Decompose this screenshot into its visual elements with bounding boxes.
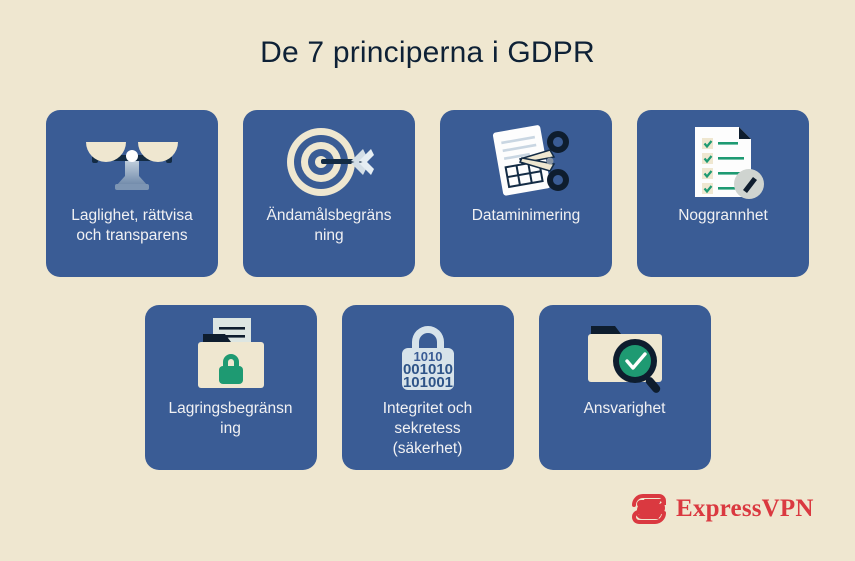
principle-card-accuracy[interactable]: Noggrannhet xyxy=(637,110,809,277)
principle-card-label: Laglighet, rättvisa och transparens xyxy=(70,206,195,246)
folder-lock-icon xyxy=(181,317,281,395)
principle-card-label: Noggrannhet xyxy=(661,206,786,226)
principle-card-purpose-limitation[interactable]: Ändamålsbegränsning xyxy=(243,110,415,277)
expressvpn-logo[interactable]: ExpressVPN xyxy=(632,494,814,524)
binary-padlock-icon: 1010 001010 101001 xyxy=(378,317,478,395)
principles-row-top: Laglighet, rättvisa och transparens xyxy=(0,110,855,277)
principle-card-integrity-confidentiality[interactable]: 1010 001010 101001 Integritet och sekret… xyxy=(342,305,514,470)
page-title: De 7 principerna i GDPR xyxy=(0,33,855,73)
principle-card-label: Dataminimering xyxy=(464,206,589,226)
principles-row-bottom: Lagringsbegränsning 1010 001010 101001 I… xyxy=(0,305,855,470)
folder-magnifier-check-icon xyxy=(575,317,675,395)
brand-name: ExpressVPN xyxy=(676,495,814,523)
principle-card-storage-limitation[interactable]: Lagringsbegränsning xyxy=(145,305,317,470)
binary-line-3: 101001 xyxy=(402,374,452,391)
principle-card-label: Lagringsbegränsning xyxy=(168,399,293,439)
principle-card-accountability[interactable]: Ansvarighet xyxy=(539,305,711,470)
principle-card-lawfulness[interactable]: Laglighet, rättvisa och transparens xyxy=(46,110,218,277)
principle-card-label: Ansvarighet xyxy=(562,399,687,419)
principle-card-label: Ändamålsbegränsning xyxy=(267,206,392,246)
balance-scale-icon xyxy=(82,122,182,202)
checklist-pencil-icon xyxy=(673,122,773,202)
gdpr-principles-infographic: De 7 principerna i GDPR xyxy=(0,0,855,561)
document-scissors-icon xyxy=(476,122,576,202)
target-arrow-icon xyxy=(279,122,379,202)
principle-card-data-minimisation[interactable]: Dataminimering xyxy=(440,110,612,277)
expressvpn-logo-icon xyxy=(632,494,666,524)
principle-card-label: Integritet och sekretess (säkerhet) xyxy=(358,399,498,459)
